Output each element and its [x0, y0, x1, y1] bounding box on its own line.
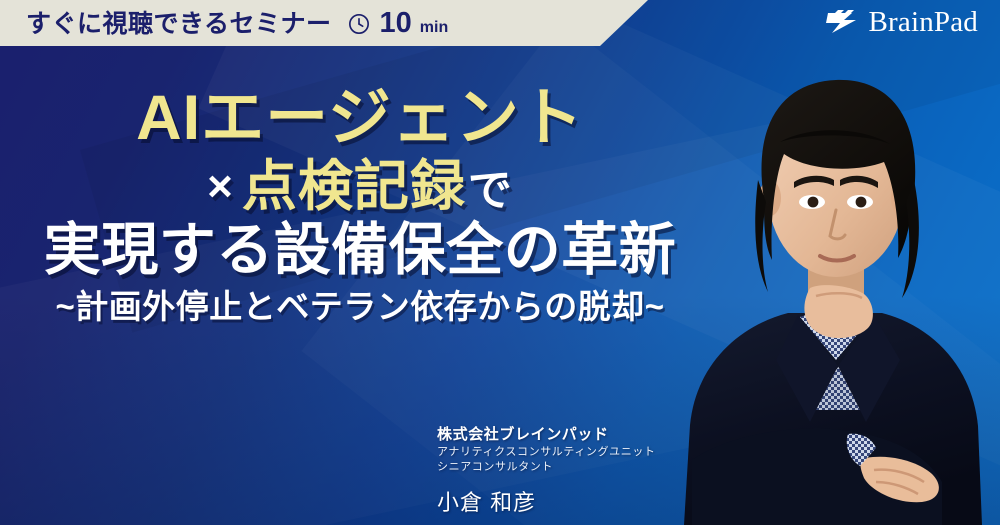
- brainpad-logo: BrainPad: [822, 8, 978, 37]
- clock-icon: [348, 13, 370, 35]
- duration-value: 10: [380, 9, 412, 38]
- speaker-title: シニアコンサルタント: [437, 460, 737, 475]
- ribbon-label: すぐに視聴できるセミナー: [26, 12, 332, 37]
- headline-subtitle: ~計画外停止とベテラン依存からの脱却~: [0, 290, 720, 324]
- cross-symbol: ×: [207, 162, 234, 211]
- logo-wordmark: BrainPad: [868, 8, 978, 37]
- lightning-bolt-icon: [822, 10, 864, 36]
- duration-unit: min: [420, 20, 448, 36]
- headline-line-3: 実現する設備保全の革新: [0, 221, 720, 280]
- speaker-unit: アナリティクスコンサルティングユニット: [437, 445, 737, 460]
- availability-ribbon: すぐに視聴できるセミナー 10 min: [0, 0, 648, 46]
- headline-block: AIエージェント ×点検記録で 実現する設備保全の革新 ~計画外停止とベテラン依…: [0, 86, 720, 324]
- speaker-info: 株式会社ブレインパッド アナリティクスコンサルティングユニット シニアコンサルタ…: [437, 426, 737, 516]
- seminar-banner: すぐに視聴できるセミナー 10 min BrainPad AIエージェント: [0, 0, 1000, 525]
- headline-line-1: AIエージェント: [0, 86, 720, 152]
- speaker-name: 小倉 和彦: [437, 490, 737, 516]
- headline-line-2: ×点検記録で: [0, 158, 720, 215]
- speaker-company: 株式会社ブレインパッド: [437, 426, 737, 445]
- headline-keyword: 点検記録: [242, 155, 466, 217]
- headline-line-2-tail: で: [468, 166, 513, 215]
